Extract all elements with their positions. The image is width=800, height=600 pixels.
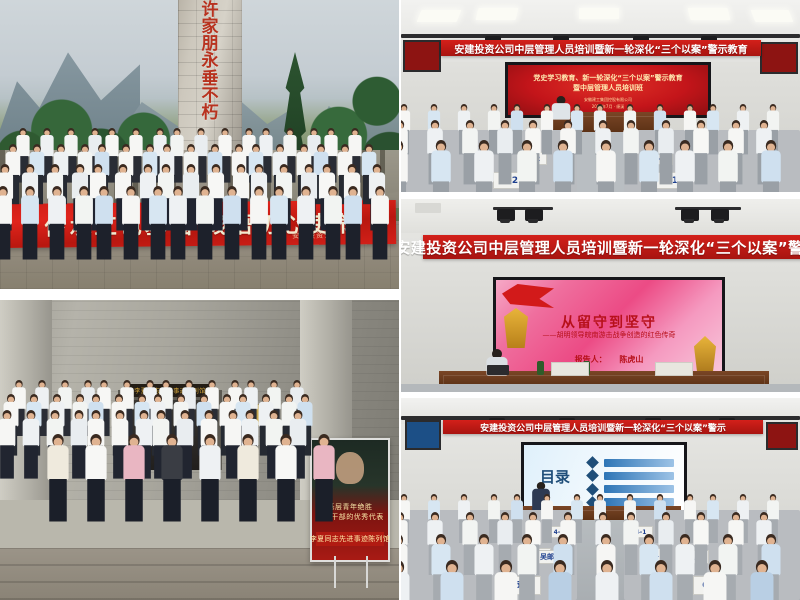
person-body	[149, 195, 167, 224]
person-legs	[708, 130, 718, 154]
person-body	[474, 544, 493, 575]
person-body	[751, 572, 774, 600]
poster-stand	[334, 556, 368, 588]
person-body	[324, 195, 342, 224]
seated-audience	[401, 104, 800, 192]
person-legs	[433, 181, 449, 192]
person-body	[123, 445, 144, 480]
person-body	[169, 195, 187, 224]
water-bottle	[537, 361, 544, 375]
overhead-banner-text: 安建投资公司中层管理人员培训暨新一轮深化“三个以案”警示教	[401, 237, 800, 258]
monument-char: 永	[202, 53, 219, 69]
person-legs	[625, 153, 638, 184]
person-body	[237, 445, 258, 480]
person-body	[474, 150, 494, 182]
person-body	[462, 520, 477, 545]
photo-lecture-session: 安建投资公司中层管理人员培训暨新一轮深化“三个以案”警示教 从留守到坚守 ——胡…	[401, 199, 800, 392]
person-legs	[641, 181, 657, 192]
person-body	[441, 572, 464, 600]
person-legs	[326, 224, 341, 260]
side-display-left	[405, 420, 441, 450]
person-body	[431, 150, 451, 182]
person-legs	[519, 181, 535, 192]
person-legs	[252, 224, 267, 260]
person-body	[21, 195, 39, 224]
person-legs	[695, 153, 708, 184]
person-body	[549, 572, 572, 600]
person-body	[223, 195, 241, 224]
person-body	[675, 150, 695, 182]
overhead-banner-text: 安建投资公司中层管理人员培训暨新一轮深化“三个以案”警示教育	[454, 41, 747, 56]
person-body	[511, 500, 523, 520]
person-legs	[0, 445, 14, 478]
person-body	[497, 520, 512, 545]
person-body	[541, 500, 553, 520]
side-display-left	[403, 40, 441, 72]
person-body	[85, 445, 106, 480]
person-legs	[124, 224, 139, 260]
person-body	[371, 195, 389, 224]
person-legs	[598, 181, 614, 192]
photo-collage: 许 家 朋 永 垂 不 朽 传承红色基因 践悟初心使命 安建投资公司 李夏同志先…	[0, 0, 800, 600]
person-body	[658, 520, 673, 545]
screen-title: 从留守到坚守	[496, 312, 722, 332]
person-body	[250, 195, 268, 224]
person-legs	[542, 130, 552, 154]
person-body	[718, 150, 738, 182]
stage-spotlight	[497, 209, 515, 221]
person-body	[707, 110, 719, 130]
person-body	[541, 110, 553, 130]
person-legs	[695, 544, 708, 575]
person-legs	[72, 445, 86, 478]
person-body	[658, 128, 674, 154]
person-legs	[125, 479, 143, 522]
person-legs	[171, 224, 186, 260]
person-legs	[24, 445, 38, 478]
group-of-attendees	[0, 128, 399, 258]
person-legs	[97, 224, 112, 260]
poster-title-text: 李夏同志先进事迹陈列馆	[310, 534, 390, 544]
side-display-right	[766, 422, 798, 450]
person-body	[488, 110, 500, 130]
party-flag-graphic	[502, 284, 554, 308]
laptop	[487, 365, 509, 375]
person-body	[495, 572, 518, 600]
toc-item-bar	[604, 459, 674, 467]
person-legs	[499, 153, 512, 184]
person-legs	[677, 574, 693, 600]
toc-item-bar	[604, 485, 674, 493]
person-legs	[87, 479, 105, 522]
person-body	[75, 195, 93, 224]
person-body	[313, 445, 334, 480]
person-body	[511, 110, 523, 130]
person-body	[112, 419, 129, 446]
person-body	[225, 419, 242, 446]
photo-training-session: 安建投资公司中层管理人员培训暨新一轮深化“三个以案”警示 目录 6-2	[401, 398, 800, 600]
person-legs	[542, 519, 552, 543]
person-body	[517, 544, 536, 575]
person-legs	[677, 181, 693, 192]
person-body	[23, 419, 40, 446]
person-body	[344, 195, 362, 224]
bullet-diamond	[586, 456, 599, 469]
person-body	[497, 128, 513, 154]
person-legs	[151, 224, 166, 260]
person-body	[693, 520, 708, 545]
person-body	[161, 445, 182, 480]
person-body	[48, 195, 66, 224]
person-body	[675, 544, 694, 575]
monument-inscription: 许 家 朋 永 垂 不 朽	[190, 2, 230, 121]
person-body	[596, 150, 616, 182]
person-legs	[763, 181, 779, 192]
person-body	[639, 150, 659, 182]
stage-spotlight	[711, 209, 729, 221]
person-body	[704, 572, 727, 600]
person-legs	[519, 574, 535, 600]
person-legs	[476, 181, 492, 192]
person-body	[707, 500, 719, 520]
person-body	[196, 195, 214, 224]
person-legs	[77, 224, 92, 260]
person-body	[623, 128, 639, 154]
person-legs	[373, 224, 388, 260]
person-legs	[625, 544, 638, 575]
person-legs	[225, 224, 240, 260]
monument-char: 朋	[202, 36, 219, 52]
person-body	[684, 500, 696, 520]
toc-item-bar	[604, 472, 674, 480]
lighting-truss	[401, 34, 800, 38]
ceiling-light	[417, 10, 462, 22]
person-legs	[401, 181, 406, 192]
person-body	[571, 500, 583, 520]
overhead-banner-text: 安建投资公司中层管理人员培训暨新一轮深化“三个以案”警示	[480, 421, 726, 434]
ceiling-light	[751, 10, 794, 22]
monument-char: 垂	[202, 71, 219, 87]
person-body	[596, 572, 619, 600]
ceiling-light	[476, 8, 519, 20]
screen-title: 党史学习教育、新一轮深化“三个以案”警示教育	[508, 73, 708, 83]
person-legs	[198, 224, 213, 260]
name-card	[655, 362, 693, 376]
person-legs	[163, 479, 181, 522]
ceiling-vent	[415, 203, 441, 213]
seated-audience	[401, 494, 800, 600]
photo-conference-opening: 安建投资公司中层管理人员培训暨新一轮深化“三个以案”警示教育 党史学习教育、新一…	[401, 0, 800, 192]
person-legs	[315, 479, 333, 522]
side-display-right	[760, 42, 798, 74]
person-legs	[708, 519, 718, 543]
person-body	[623, 520, 638, 545]
person-body	[0, 419, 15, 446]
person-body	[0, 195, 12, 224]
person-body	[761, 150, 781, 182]
person-body	[290, 419, 307, 446]
stage-spotlight	[525, 209, 543, 221]
person-body	[401, 150, 408, 182]
person-legs	[50, 224, 65, 260]
name-card	[551, 362, 589, 376]
person-legs	[476, 574, 492, 600]
screen-footer-org: 安徽建工集团控股有限公司	[508, 97, 708, 103]
person-body	[297, 195, 315, 224]
person-legs	[23, 224, 38, 260]
person-legs	[239, 479, 257, 522]
person-body	[177, 419, 194, 446]
ceiling	[401, 199, 800, 233]
person-legs	[660, 153, 673, 184]
person-legs	[0, 224, 10, 260]
monument-char: 朽	[202, 105, 219, 121]
monument-char: 家	[202, 19, 219, 35]
photo-monument-group: 许 家 朋 永 垂 不 朽 传承红色基因 践悟初心使命 安建投资公司	[0, 0, 399, 289]
screen-subtitle: ——胡明领导皖南游击战争创造的红色传奇	[496, 330, 722, 340]
person-legs	[201, 479, 219, 522]
photo-museum-group: 李夏同志先进事迹陈列馆 基层青年绝胜 选调干部的优秀代表 李夏同志先进事迹陈列馆	[0, 300, 399, 600]
floor	[401, 384, 800, 392]
bullet-diamond	[586, 470, 599, 483]
person-body	[517, 150, 537, 182]
overhead-red-banner: 安建投资公司中层管理人员培训暨新一轮深化“三个以案”警示教	[423, 235, 800, 259]
poster-portrait	[336, 452, 364, 484]
person-legs	[346, 224, 361, 260]
person-body	[270, 195, 288, 224]
person-legs	[512, 519, 522, 543]
person-legs	[299, 224, 314, 260]
speaker-name: 陈虎山	[619, 355, 643, 364]
overhead-red-banner: 安建投资公司中层管理人员培训暨新一轮深化“三个以案”警示	[443, 420, 763, 434]
person-legs	[720, 181, 736, 192]
monument-char: 许	[202, 2, 219, 18]
person-body	[401, 572, 409, 600]
poster-title-band: 李夏同志先进事迹陈列馆	[316, 532, 384, 546]
person-legs	[49, 479, 67, 522]
person-legs	[277, 479, 295, 522]
person-legs	[555, 181, 571, 192]
person-body	[684, 110, 696, 130]
screen-subtitle: 暨中层管理人员培训班	[508, 83, 708, 93]
person-body	[650, 572, 673, 600]
person-body	[718, 544, 737, 575]
monument-char: 不	[202, 88, 219, 104]
person-body	[199, 445, 220, 480]
overhead-red-banner: 安建投资公司中层管理人员培训暨新一轮深化“三个以案”警示教育	[441, 40, 761, 56]
stage-spotlight	[681, 209, 699, 221]
person-body	[71, 419, 88, 446]
person-body	[553, 150, 573, 182]
person-body	[122, 195, 140, 224]
person-body	[488, 500, 500, 520]
person-body	[767, 500, 779, 520]
person-body	[183, 173, 199, 200]
person-legs	[272, 224, 287, 260]
person-body	[95, 195, 113, 224]
person-body	[47, 445, 68, 480]
person-body	[275, 445, 296, 480]
person-body	[693, 128, 709, 154]
ceiling-light	[579, 8, 619, 19]
ceiling-light	[688, 8, 731, 20]
